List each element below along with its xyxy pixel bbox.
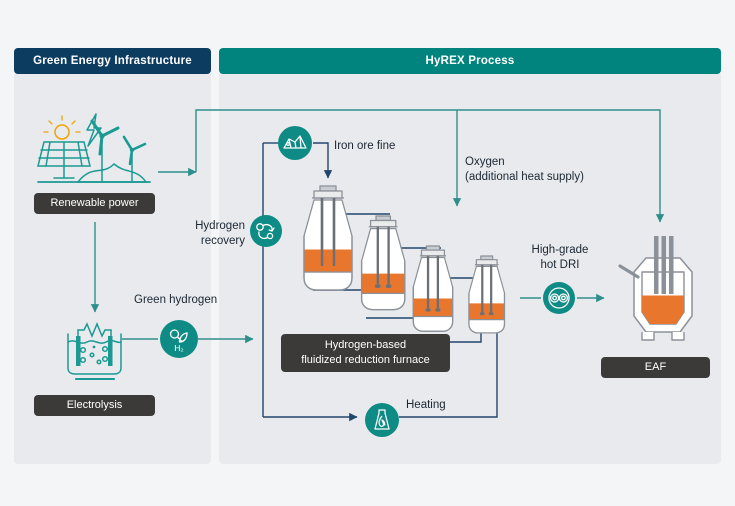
ore-rock-icon (282, 130, 308, 156)
dri-line2: hot DRI (541, 259, 580, 271)
caption-electrolysis: Electrolysis (34, 395, 155, 416)
label-high-grade-hot-dri: High-grade hot DRI (524, 243, 596, 273)
diagram-canvas: Green Energy Infrastructure HyREX Proces… (0, 0, 735, 506)
flame-burner-icon (369, 407, 395, 433)
iron-ore-badge[interactable] (278, 126, 312, 160)
hydrogen-recovery-line1: Hydrogen (195, 220, 245, 232)
green-hydrogen-badge[interactable]: H₂ (160, 320, 198, 358)
label-hydrogen-recovery: Hydrogen recovery (183, 219, 245, 249)
label-oxygen: Oxygen (additional heat supply) (465, 155, 584, 185)
furnace-caption-line1: Hydrogen-based (325, 339, 406, 351)
hydrogen-formula-label: H₂ (174, 343, 183, 353)
hydrogen-recovery-badge[interactable] (250, 215, 282, 247)
label-green-hydrogen: Green hydrogen (134, 293, 217, 308)
oxygen-line1: Oxygen (465, 156, 505, 168)
heating-badge[interactable] (365, 403, 399, 437)
panel-header-hyrex-process: HyREX Process (219, 48, 721, 74)
oxygen-line2: (additional heat supply) (465, 171, 584, 183)
panel-header-green-energy-infrastructure: Green Energy Infrastructure (14, 48, 211, 74)
hydrogen-leaf-icon: H₂ (163, 323, 195, 355)
label-iron-ore-fine: Iron ore fine (334, 139, 395, 154)
label-heating: Heating (406, 398, 446, 413)
caption-eaf: EAF (601, 357, 710, 378)
furnace-caption-line2: fluidized reduction furnace (301, 354, 429, 366)
caption-renewable-power: Renewable power (34, 193, 155, 214)
recycle-molecule-icon (254, 219, 278, 243)
dri-pellets-icon (547, 286, 571, 310)
caption-reduction-furnace: Hydrogen-based fluidized reduction furna… (281, 334, 450, 372)
hot-dri-badge[interactable] (543, 282, 575, 314)
hydrogen-recovery-line2: recovery (201, 235, 245, 247)
dri-line1: High-grade (532, 244, 589, 256)
